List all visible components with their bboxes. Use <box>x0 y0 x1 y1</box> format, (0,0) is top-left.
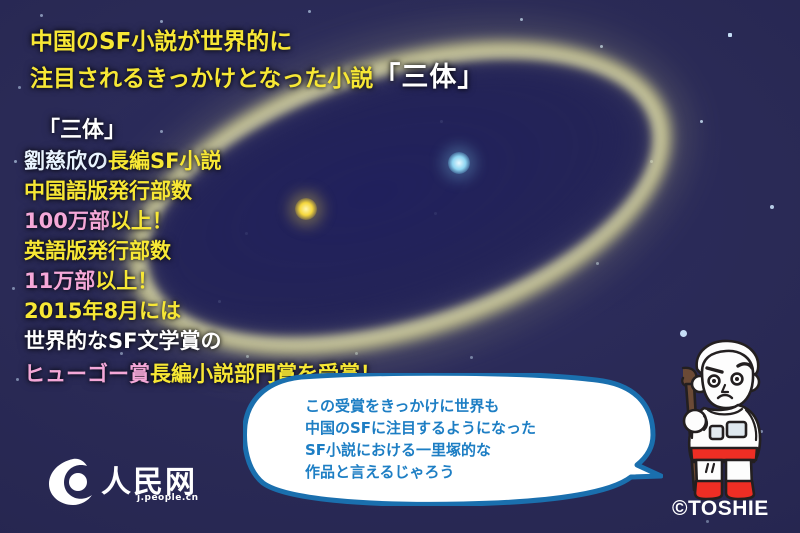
star <box>680 330 687 337</box>
star <box>14 160 17 163</box>
star <box>18 86 21 89</box>
facts-award-desc-text: 世界的なSF文学賞の <box>24 329 221 353</box>
book-title-highlight: 「三体」 <box>373 62 485 93</box>
star <box>160 20 163 23</box>
star <box>12 287 15 290</box>
star <box>308 10 311 13</box>
star <box>770 205 774 209</box>
facts-author-name: 劉慈欣の <box>24 149 108 173</box>
headline: 中国のSF小説が世界的に 注目されるきっかけとなった小説「三体」 <box>30 24 485 97</box>
headline-line-2: 注目されるきっかけとなった小説「三体」 <box>30 60 485 97</box>
bubble-line-1: この受賞をきっかけに世界も <box>305 395 536 417</box>
people-cn-logo-url: j.people.cn <box>137 493 199 503</box>
astronaut-character <box>650 338 790 503</box>
facts-block: 「三体」 劉慈欣の長編SF小説 中国語版発行部数 100万部以上！ 英語版発行部… <box>24 116 381 389</box>
bubble-line-2: 中国のSFに注目するようになった <box>305 417 536 439</box>
facts-en-edition-label: 英語版発行部数 <box>24 236 381 266</box>
speech-bubble: この受賞をきっかけに世界も 中国のSFに注目するようになった SF小説における一… <box>243 373 663 506</box>
facts-title-text: 「三体」 <box>38 118 126 143</box>
facts-award-date-text: 2015年8月には <box>24 299 181 323</box>
facts-cn-edition-count: 100万部以上！ <box>24 206 381 236</box>
facts-en-edition-count: 11万部以上！ <box>24 266 381 296</box>
facts-cn-edition-label-text: 中国語版発行部数 <box>24 179 192 203</box>
copyright-credit: ©TOSHIE <box>672 497 769 521</box>
people-cn-logo[interactable]: 人民网 j.people.cn <box>45 455 215 510</box>
facts-title: 「三体」 <box>24 116 381 146</box>
facts-cn-copies-number: 100万部 <box>24 209 110 233</box>
facts-cn-edition-label: 中国語版発行部数 <box>24 176 381 206</box>
facts-author-genre: 長編SF小説 <box>108 149 221 173</box>
star <box>728 33 732 37</box>
facts-author-line: 劉慈欣の長編SF小説 <box>24 146 381 176</box>
astronaut-illustration <box>650 338 790 503</box>
speech-bubble-text: この受賞をきっかけに世界も 中国のSFに注目するようになった SF小説における一… <box>305 395 536 483</box>
star <box>40 14 43 17</box>
facts-en-edition-label-text: 英語版発行部数 <box>24 239 171 263</box>
headline-line-2-text: 注目されるきっかけとなった小説 <box>30 66 373 92</box>
star <box>16 378 19 381</box>
facts-en-copies-suffix: 以上！ <box>95 269 158 293</box>
headline-line-1-text: 中国のSF小説が世界的に <box>30 29 292 55</box>
blue-sun-icon <box>448 152 470 174</box>
headline-line-1: 中国のSF小説が世界的に <box>30 24 485 60</box>
facts-hugo-award-name: ヒューゴー賞 <box>24 362 150 386</box>
bubble-line-3: SF小説における一里塚的な <box>305 439 536 461</box>
facts-award-date: 2015年8月には <box>24 296 381 326</box>
facts-award-desc: 世界的なSF文学賞の <box>24 326 381 356</box>
facts-en-copies-number: 11万部 <box>24 269 95 293</box>
star <box>470 356 473 359</box>
facts-cn-copies-suffix: 以上！ <box>110 209 173 233</box>
poster-canvas: 中国のSF小説が世界的に 注目されるきっかけとなった小説「三体」 「三体」 劉慈… <box>0 0 800 533</box>
star <box>700 120 703 123</box>
bubble-line-4: 作品と言えるじゃろう <box>305 461 536 483</box>
